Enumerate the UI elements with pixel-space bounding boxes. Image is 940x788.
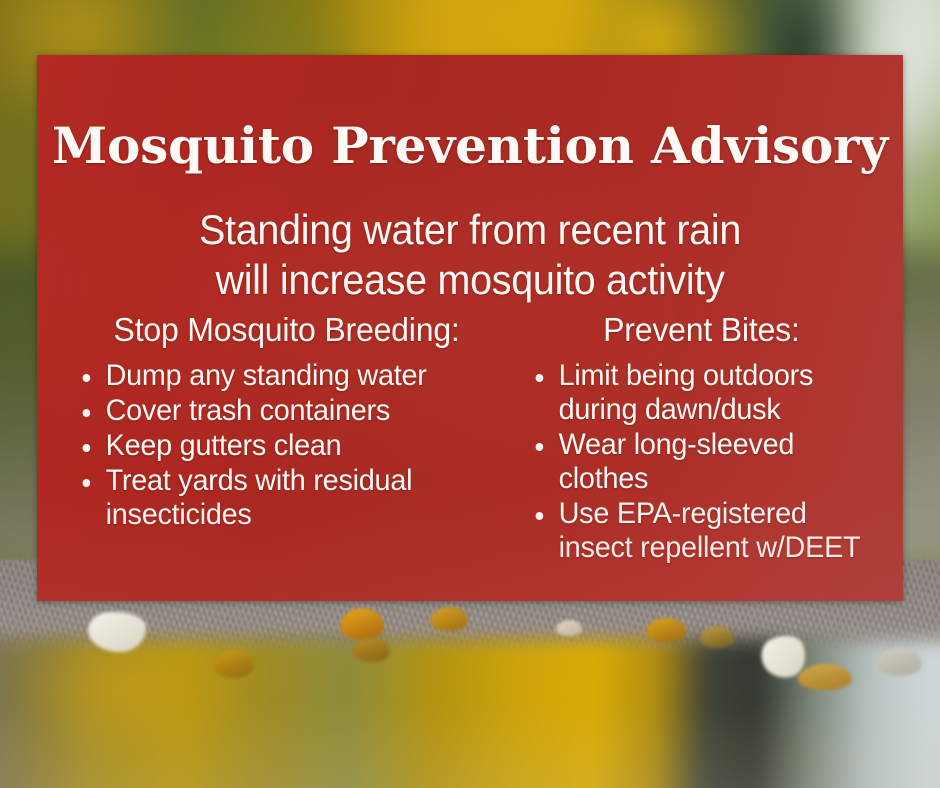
list-prevent-bites: Limit being outdoors during dawn/dusk We…: [525, 359, 903, 565]
subtitle-line-2: will increase mosquito activity: [63, 255, 877, 305]
column-prevent-bites: Prevent Bites: Limit being outdoors duri…: [507, 310, 903, 566]
list-item: Dump any standing water: [72, 359, 490, 393]
list-stop-breeding: Dump any standing water Cover trash cont…: [72, 359, 507, 532]
list-item: Limit being outdoors during dawn/dusk: [525, 359, 888, 427]
page-title: Mosquito Prevention Advisory: [37, 117, 903, 175]
list-item: Wear long-sleeved clothes: [525, 428, 888, 496]
subtitle-line-1: Standing water from recent rain: [63, 205, 877, 255]
column-stop-breeding: Stop Mosquito Breeding: Dump any standin…: [37, 310, 507, 533]
advisory-poster: Mosquito Prevention Advisory Standing wa…: [0, 0, 940, 788]
advice-columns: Stop Mosquito Breeding: Dump any standin…: [37, 310, 903, 566]
leaf-debris: [556, 620, 582, 636]
leaf-debris: [798, 664, 852, 690]
subtitle: Standing water from recent rain will inc…: [63, 205, 877, 305]
column-heading-stop-breeding: Stop Mosquito Breeding:: [79, 310, 501, 350]
leaf-debris: [700, 626, 734, 648]
advisory-panel: Mosquito Prevention Advisory Standing wa…: [37, 55, 903, 601]
leaf-debris: [214, 650, 254, 678]
list-item: Cover trash containers: [72, 394, 490, 428]
background-water-sheen: [0, 700, 940, 788]
leaf-debris: [340, 608, 384, 640]
leaf-debris: [430, 607, 468, 631]
leaf-debris: [646, 618, 686, 642]
leaf-debris: [876, 648, 922, 676]
column-heading-prevent-bites: Prevent Bites:: [531, 310, 898, 350]
leaf-debris: [352, 638, 390, 662]
list-item: Treat yards with residual insecticides: [72, 464, 490, 532]
list-item: Keep gutters clean: [72, 429, 490, 463]
list-item: Use EPA-registered insect repellent w/DE…: [525, 497, 888, 565]
